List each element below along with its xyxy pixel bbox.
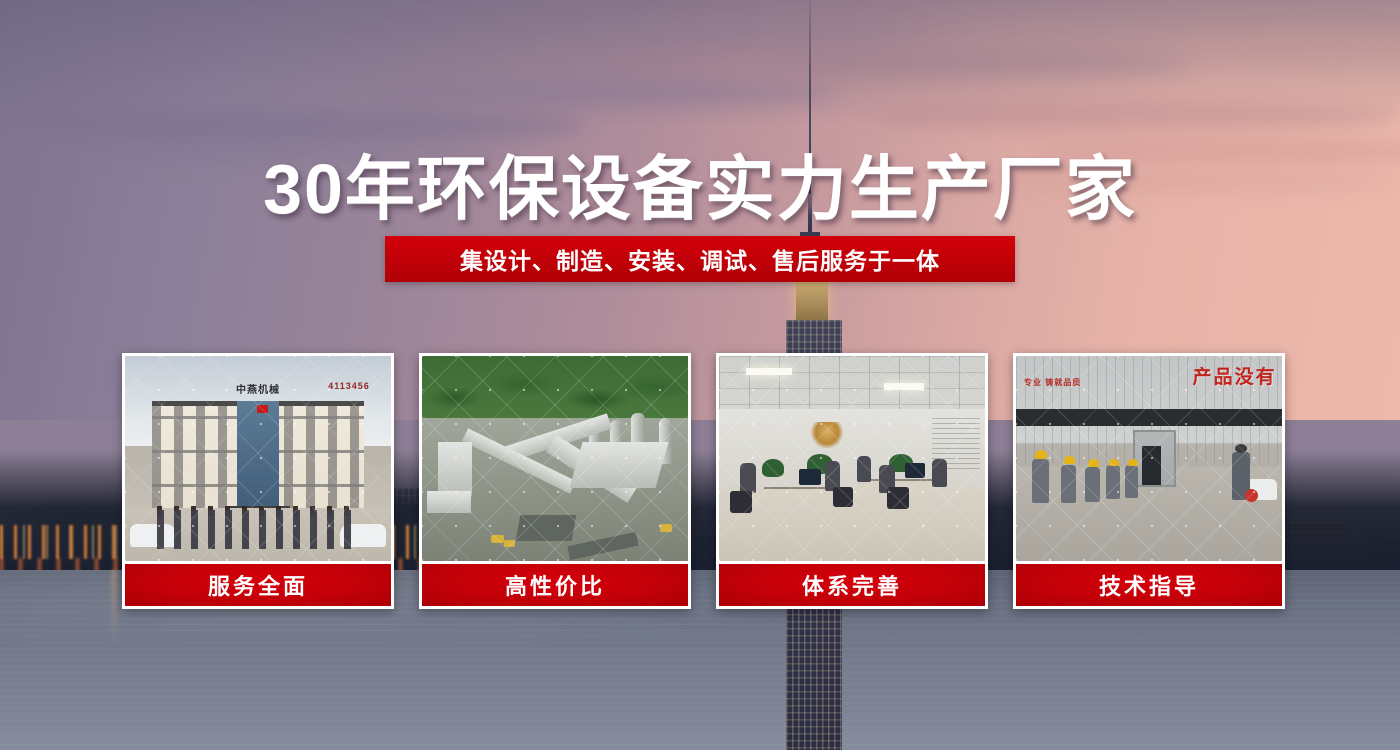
card-caption-bar: 体系完善 [719,561,985,606]
hero-banner: 30年环保设备实力生产厂家 集设计、制造、安装、调试、售后服务于一体 中燕机械 … [0,0,1400,750]
feature-card-value[interactable]: 高性价比 [419,353,691,609]
feature-card-list: 中燕机械 4113456 服务全面 [122,353,1285,609]
card-caption-label: 技术指导 [1099,569,1199,601]
subtitle-text: 集设计、制造、安装、调试、售后服务于一体 [460,242,940,276]
factory-sign-text: 产品没有 [1193,362,1277,389]
water-reflection [112,570,116,646]
card-photo-aerial-plant [422,356,688,561]
card-caption-bar: 高性价比 [422,561,688,606]
building-phone-number: 4113456 [328,381,370,391]
card-photo-office-interior [719,356,985,561]
card-caption-bar: 技术指导 [1016,561,1282,606]
page-title: 30年环保设备实力生产厂家 [0,133,1400,234]
feature-card-training[interactable]: 产品没有 专业 铸就品质 [1013,353,1285,609]
subtitle-banner: 集设计、制造、安装、调试、售后服务于一体 [385,236,1015,282]
card-caption-bar: 服务全面 [125,561,391,606]
feature-card-system[interactable]: 体系完善 [716,353,988,609]
card-caption-label: 体系完善 [802,569,902,601]
feature-card-service[interactable]: 中燕机械 4113456 服务全面 [122,353,394,609]
factory-slogan-text: 专业 铸就品质 [1024,377,1081,388]
card-caption-label: 高性价比 [505,569,605,601]
card-photo-office-building: 中燕机械 4113456 [125,356,391,561]
card-photo-worker-training: 产品没有 专业 铸就品质 [1016,356,1282,561]
card-caption-label: 服务全面 [208,569,308,601]
